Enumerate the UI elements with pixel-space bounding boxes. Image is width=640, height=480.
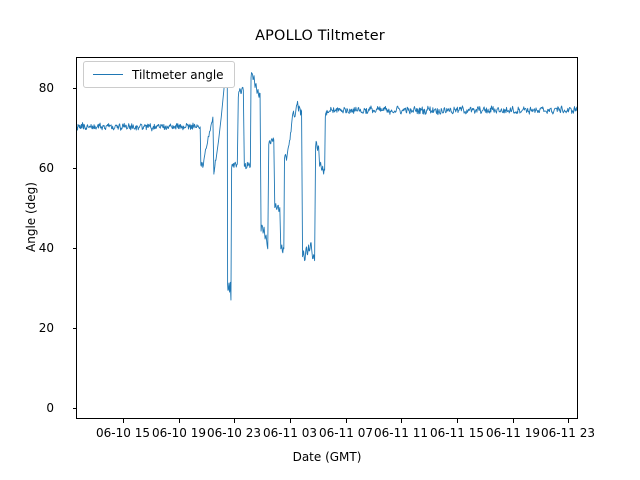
legend-entry-label: Tiltmeter angle bbox=[132, 68, 224, 82]
page-title: APOLLO Tiltmeter bbox=[0, 28, 640, 44]
xtick-mark-6 bbox=[457, 419, 458, 423]
xtick-mark-3 bbox=[290, 419, 291, 423]
tiltmeter-angle-line bbox=[77, 73, 578, 300]
x-axis-label: Date (GMT) bbox=[76, 450, 578, 464]
xtick-label-8: 06-11 23 bbox=[528, 427, 608, 440]
ytick-mark-40 bbox=[73, 248, 77, 249]
ytick-mark-60 bbox=[73, 168, 77, 169]
data-line-series bbox=[77, 58, 578, 419]
y-axis-label: Angle (deg) bbox=[24, 36, 38, 398]
xtick-mark-0 bbox=[123, 419, 124, 423]
xtick-mark-1 bbox=[179, 419, 180, 423]
legend-line-swatch bbox=[93, 69, 123, 80]
plot-area bbox=[76, 57, 578, 419]
xtick-mark-8 bbox=[568, 419, 569, 423]
xtick-mark-7 bbox=[513, 419, 514, 423]
ytick-mark-0 bbox=[73, 408, 77, 409]
matplotlib-figure: APOLLO Tiltmeter 80 60 40 20 0 06-10 15 … bbox=[0, 0, 640, 480]
ytick-mark-20 bbox=[73, 328, 77, 329]
xtick-mark-5 bbox=[401, 419, 402, 423]
ytick-mark-80 bbox=[73, 88, 77, 89]
xtick-mark-4 bbox=[346, 419, 347, 423]
xtick-mark-2 bbox=[234, 419, 235, 423]
legend: Tiltmeter angle bbox=[83, 61, 235, 88]
ytick-label-0: 0 bbox=[0, 402, 54, 414]
